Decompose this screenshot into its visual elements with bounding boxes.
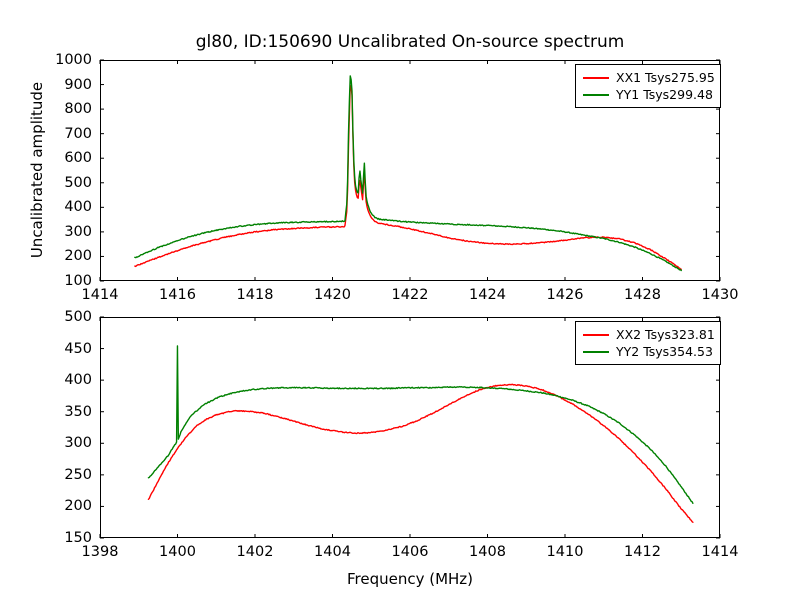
x-tick-label: 1398: [82, 544, 119, 560]
bottom-legend[interactable]: XX2 Tsys323.81 YY2 Tsys354.53: [575, 321, 721, 365]
legend-swatch-xx2: [583, 334, 609, 336]
bottom-x-axis-label: Frequency (MHz): [347, 570, 473, 588]
figure-canvas: gl80, ID:150690 Uncalibrated On-source s…: [0, 0, 800, 600]
legend-label-xx2: XX2 Tsys323.81: [616, 327, 715, 342]
legend-label-yy2: YY2 Tsys354.53: [616, 344, 713, 359]
legend-item-yy2: YY2 Tsys354.53: [581, 343, 715, 360]
top-plot-lines: [0, 0, 800, 300]
y-tick-label: 1000: [40, 52, 92, 68]
y-tick-label: 300: [40, 224, 92, 240]
x-tick-label: 1414: [702, 544, 739, 560]
series-line: [135, 86, 681, 270]
top-spectrum-panel: 1414141614181420142214241426142814301002…: [0, 0, 800, 300]
top-y-axis-label: Uncalibrated amplitude: [28, 82, 46, 258]
y-tick-label: 600: [40, 150, 92, 166]
top-legend[interactable]: XX1 Tsys275.95 YY1 Tsys299.48: [575, 64, 721, 108]
series-line: [148, 384, 692, 522]
y-tick-label: 450: [40, 341, 92, 357]
bottom-spectrum-panel: 1398140014021404140614081410141214141502…: [0, 300, 800, 600]
legend-item-xx1: XX1 Tsys275.95: [581, 69, 715, 86]
y-tick-label: 250: [40, 467, 92, 483]
y-tick-label: 800: [40, 101, 92, 117]
legend-item-yy1: YY1 Tsys299.48: [581, 86, 715, 103]
y-tick-label: 300: [40, 435, 92, 451]
legend-swatch-xx1: [583, 77, 609, 79]
x-tick-label: 1412: [624, 544, 661, 560]
x-tick-label: 1400: [159, 544, 196, 560]
y-tick-label: 900: [40, 77, 92, 93]
y-tick-label: 150: [40, 530, 92, 546]
y-tick-label: 400: [40, 372, 92, 388]
legend-label-xx1: XX1 Tsys275.95: [616, 70, 715, 85]
y-tick-label: 500: [40, 309, 92, 325]
y-tick-label: 400: [40, 199, 92, 215]
y-tick-label: 200: [40, 248, 92, 264]
x-tick-label: 1402: [237, 544, 274, 560]
legend-item-xx2: XX2 Tsys323.81: [581, 326, 715, 343]
y-tick-label: 200: [40, 498, 92, 514]
legend-label-yy1: YY1 Tsys299.48: [616, 87, 713, 102]
x-tick-label: 1408: [469, 544, 506, 560]
x-tick-label: 1410: [547, 544, 584, 560]
legend-swatch-yy1: [583, 94, 609, 96]
legend-swatch-yy2: [583, 351, 609, 353]
y-tick-label: 500: [40, 175, 92, 191]
x-tick-label: 1404: [314, 544, 351, 560]
series-line: [148, 346, 692, 503]
y-tick-label: 350: [40, 404, 92, 420]
x-tick-label: 1406: [392, 544, 429, 560]
y-tick-label: 700: [40, 126, 92, 142]
y-tick-label: 100: [40, 273, 92, 289]
